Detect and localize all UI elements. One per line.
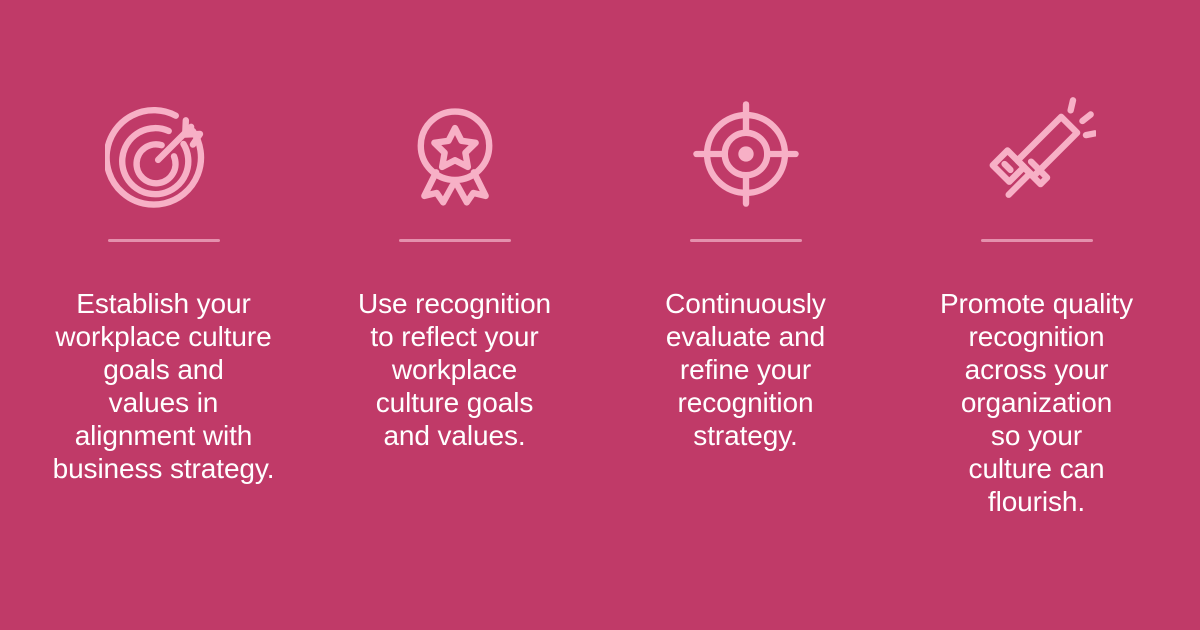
column-divider [108, 239, 220, 242]
info-column-1: Establish your workplace culture goals a… [18, 95, 309, 630]
megaphone-icon [978, 95, 1096, 213]
column-divider [399, 239, 511, 242]
info-column-2: Use recognition to reflect your workplac… [309, 95, 600, 630]
infographic-board: Establish your workplace culture goals a… [0, 0, 1200, 630]
info-column-4: Promote quality recognition across your … [891, 95, 1182, 630]
award-ribbon-star-icon [396, 95, 514, 213]
column-divider [690, 239, 802, 242]
column-caption: Continuously evaluate and refine your re… [665, 287, 826, 452]
crosshair-target-icon-column: Continuously evaluate and refine your re… [600, 95, 891, 630]
column-caption: Establish your workplace culture goals a… [53, 287, 275, 485]
target-arrow-icon [105, 95, 223, 213]
column-divider [981, 239, 1093, 242]
column-caption: Promote quality recognition across your … [940, 287, 1133, 518]
crosshair-target-icon [687, 95, 805, 213]
column-caption: Use recognition to reflect your workplac… [358, 287, 551, 452]
